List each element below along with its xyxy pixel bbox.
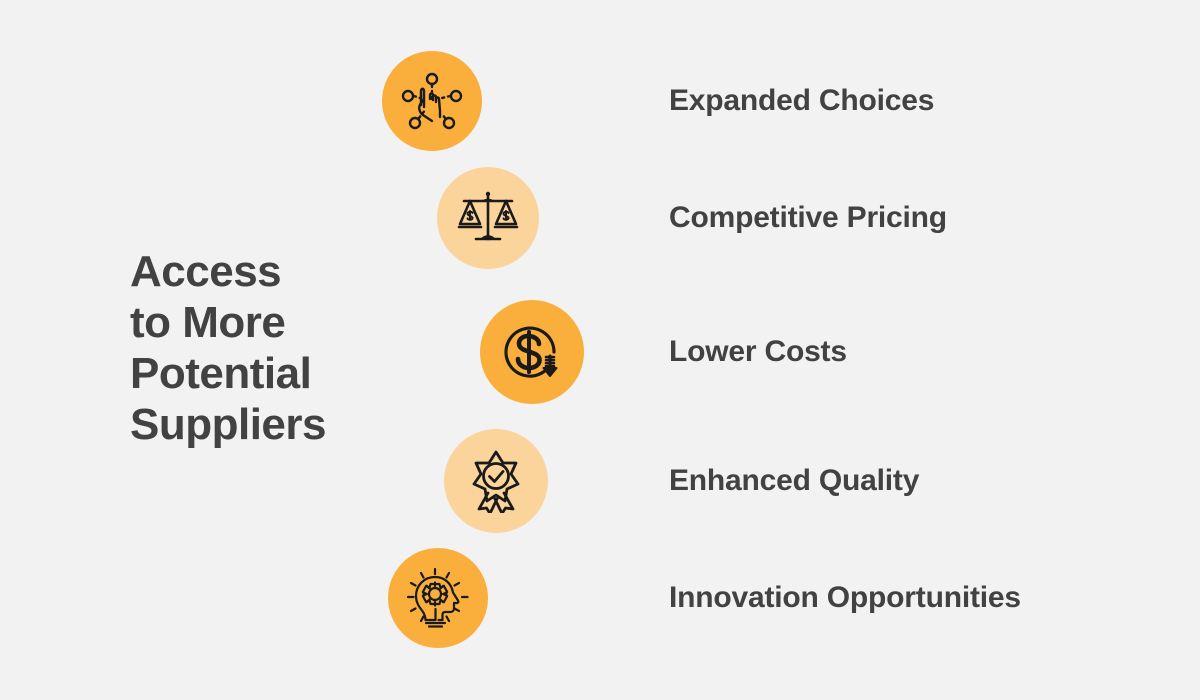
balance-scale-dollar-icon bbox=[456, 186, 520, 250]
hand-pointer-network-icon bbox=[400, 69, 464, 133]
icon-badge-lower-costs bbox=[480, 300, 584, 404]
list-item-label-lower-costs: Lower Costs bbox=[669, 335, 847, 369]
title-line-1: Access bbox=[130, 246, 430, 297]
icon-badge-innovation-opportunities bbox=[388, 548, 488, 648]
title-line-3: Potential bbox=[130, 348, 430, 399]
title-line-4: Suppliers bbox=[130, 399, 430, 450]
icon-badge-enhanced-quality bbox=[444, 429, 548, 533]
title-line-2: to More bbox=[130, 297, 430, 348]
dollar-arrow-down-icon bbox=[498, 318, 566, 386]
page-title: Access to More Potential Suppliers bbox=[130, 246, 430, 450]
icon-badge-expanded-choices bbox=[382, 51, 482, 151]
list-item-label-enhanced-quality: Enhanced Quality bbox=[669, 464, 919, 498]
icon-badge-competitive-pricing bbox=[437, 167, 539, 269]
infographic-canvas: Access to More Potential Suppliers bbox=[0, 0, 1200, 700]
award-badge-check-icon bbox=[464, 449, 528, 513]
list-item-label-competitive-pricing: Competitive Pricing bbox=[669, 201, 947, 235]
list-item-label-innovation-opportunities: Innovation Opportunities bbox=[669, 581, 1021, 615]
list-item-label-expanded-choices: Expanded Choices bbox=[669, 84, 934, 118]
lightbulb-gear-head-icon bbox=[405, 565, 471, 631]
